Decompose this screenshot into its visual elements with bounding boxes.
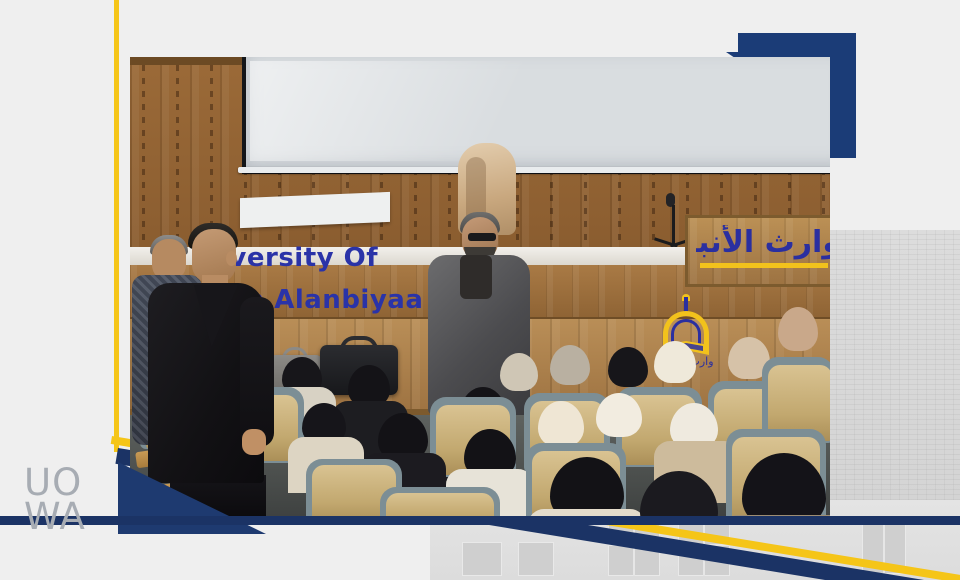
man-black-suit-hand xyxy=(242,429,266,455)
man-black-suit-ear xyxy=(226,251,237,266)
sunglasses-icon xyxy=(468,233,496,241)
attendee-head xyxy=(608,347,648,387)
man-black-suit-arm xyxy=(240,297,274,447)
attendee-head xyxy=(550,345,590,385)
english-sign-line1: iversity Of xyxy=(220,242,378,276)
white-papers xyxy=(240,192,390,228)
lecture-hall-photo: وارث الأنبياء iversity Of rith Alanbiyaa… xyxy=(130,57,830,522)
microphone-stand xyxy=(672,205,675,245)
man-gray-suit-scarf xyxy=(460,255,492,299)
uowa-logo: UO WA xyxy=(24,466,108,538)
attendee-head xyxy=(596,393,642,437)
poster-canvas: وارث الأنبياء iversity Of rith Alanbiyaa… xyxy=(0,0,960,580)
arabic-sign-underline xyxy=(700,263,828,268)
attendee-head xyxy=(538,401,584,447)
screen-bottom-bar xyxy=(238,167,830,173)
attendee-head xyxy=(654,341,696,383)
attendee-head xyxy=(500,353,538,391)
yellow-accent-line xyxy=(114,0,119,452)
navy-bottom-bar xyxy=(0,516,960,525)
uowa-logo-line2: WA xyxy=(24,500,108,534)
attendee-head xyxy=(778,307,818,351)
screen-glare xyxy=(250,61,670,161)
